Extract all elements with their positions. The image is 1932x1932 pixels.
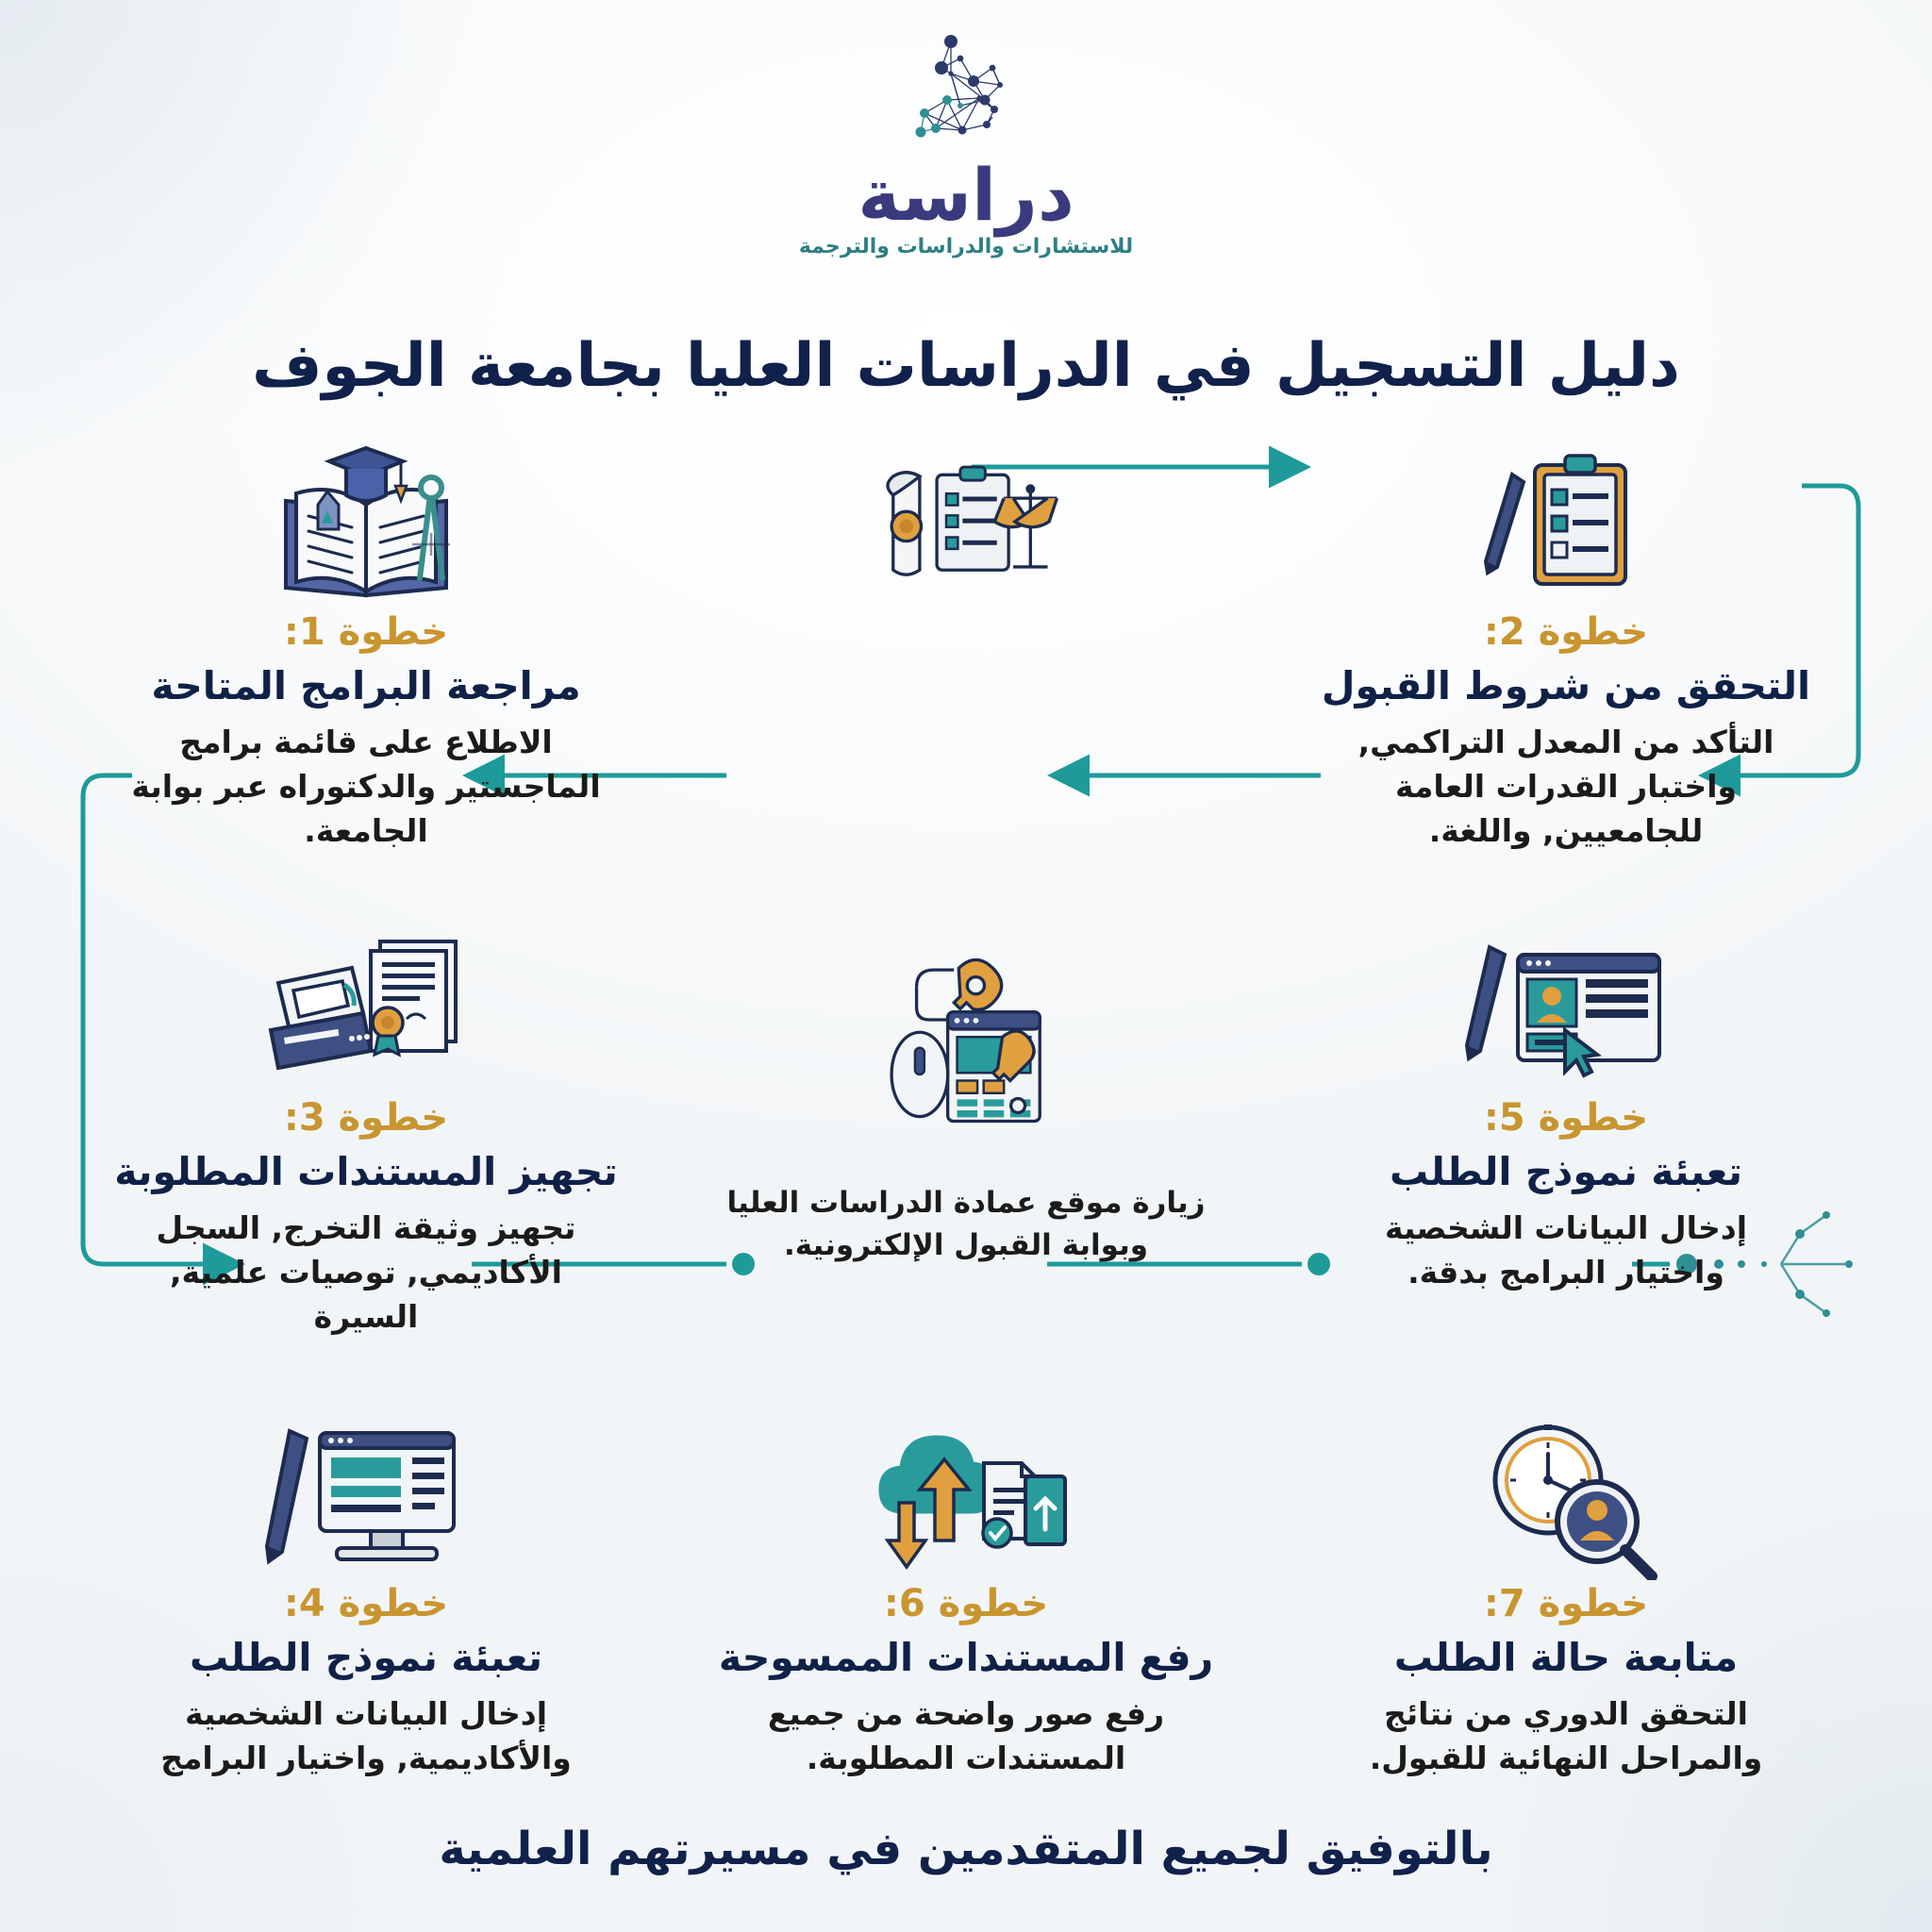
step-title: التحقق من شروط القبول (1322, 663, 1810, 709)
step-title: تعبئة نموذج الطلب (190, 1635, 542, 1681)
step-cell-2: خطوة 2: التحقق من شروط القبول التأكد من … (1266, 443, 1866, 887)
footer-message: بالتوفيق لجميع المتقدمين في مسيرتهم العل… (0, 1821, 1932, 1877)
step-label: خطوة 2: (1484, 610, 1648, 654)
clock-magnifier-person-icon (1465, 1415, 1668, 1580)
step-desc: تجهيز وثيقة التخرج, السجل الأكاديمي, توص… (130, 1207, 602, 1340)
brand-tagline: للاستشارات والدراسات والترجمة (799, 235, 1133, 258)
diploma-scroll-checklist-scale-icon (865, 443, 1068, 608)
step-title: تعبئة نموذج الطلب (1390, 1149, 1742, 1195)
step-title: متابعة حالة الطلب (1394, 1635, 1738, 1681)
step-cell-5: خطوة 5: تعبئة نموذج الطلب إدخال البيانات… (1266, 929, 1866, 1373)
scanner-documents-seal-icon (265, 929, 468, 1094)
step-title: تجهيز المستندات المطلوبة (114, 1149, 617, 1195)
step-label: خطوة 3: (284, 1096, 448, 1140)
step-cell-7: خطوة 7: متابعة حالة الطلب التحقق الدوري … (1266, 1415, 1866, 1858)
step-title: مراجعة البرامج المتاحة (151, 663, 580, 709)
step-desc: الاطلاع على قائمة برامج الماجستير والدكت… (130, 721, 602, 854)
steps-flow: خطوة 2: التحقق من شروط القبول التأكد من … (66, 443, 1866, 1772)
middle-note-cell: زيارة موقع عمادة الدراسات العليا وبوابة … (666, 929, 1266, 1373)
steps-row-3: خطوة 7: متابعة حالة الطلب التحقق الدوري … (66, 1415, 1866, 1858)
middle-note-text: زيارة موقع عمادة الدراسات العليا وبوابة … (721, 1182, 1211, 1267)
step-desc: إدخال البيانات الشخصية واختيار البرامج ب… (1330, 1207, 1802, 1295)
step-card-7[interactable]: خطوة 7: متابعة حالة الطلب التحقق الدوري … (1279, 1415, 1853, 1781)
step-label: خطوة 7: (1484, 1582, 1648, 1625)
cloud-upload-documents-icon (865, 1415, 1068, 1580)
brand-name: دراسة (858, 158, 1074, 233)
step-card-6[interactable]: خطوة 6: رفع المستندات الممسوحة رفع صور و… (679, 1415, 1253, 1781)
step-desc: رفع صور واضحة من جميع المستندات المطلوبة… (730, 1692, 1202, 1781)
scroll-checklist-scale-decoration (679, 443, 1253, 608)
open-book-graduation-cap-compass-icon (265, 443, 468, 608)
step-desc: التحقق الدوري من نتائج والمراحل النهائية… (1330, 1692, 1802, 1781)
browser-profile-form-pen-cursor-icon (1465, 929, 1668, 1094)
sparkle-decoration-icon (1775, 1711, 1841, 1790)
steps-row-1: خطوة 2: التحقق من شروط القبول التأكد من … (66, 443, 1866, 887)
step-cell-4: خطوة 4: تعبئة نموذج الطلب إدخال البيانات… (66, 1415, 666, 1858)
step-cell-6: خطوة 6: رفع المستندات الممسوحة رفع صور و… (666, 1415, 1266, 1858)
step-card-5[interactable]: خطوة 5: تعبئة نموذج الطلب إدخال البيانات… (1279, 929, 1853, 1295)
clipboard-checklist-pen-icon (1465, 443, 1668, 608)
step-card-4[interactable]: خطوة 4: تعبئة نموذج الطلب إدخال البيانات… (79, 1415, 653, 1781)
step-cell-1: خطوة 1: مراجعة البرامج المتاحة الاطلاع ع… (66, 443, 666, 887)
page-title: دليل التسجيل في الدراسات العليا بجامعة ا… (0, 330, 1932, 403)
steps-row-2: خطوة 5: تعبئة نموذج الطلب إدخال البيانات… (66, 929, 1866, 1373)
middle-visual (679, 929, 1253, 1094)
step-desc: إدخال البيانات الشخصية والأكاديمية, واخت… (130, 1692, 602, 1781)
brand-logo-block: دراسة للاستشارات والدراسات والترجمة (0, 26, 1932, 258)
step-label: خطوة 6: (884, 1582, 1048, 1625)
mouse-browser-key-icon (865, 929, 1068, 1094)
step-cell-spacer-top (666, 443, 1266, 887)
network-dove-logo-icon (881, 26, 1051, 163)
step-card-2[interactable]: خطوة 2: التحقق من شروط القبول التأكد من … (1279, 443, 1853, 854)
desktop-form-pen-icon (265, 1415, 468, 1580)
step-label: خطوة 5: (1484, 1096, 1648, 1140)
step-label: خطوة 1: (284, 610, 448, 654)
step-label: خطوة 4: (284, 1582, 448, 1625)
step-cell-3: خطوة 3: تجهيز المستندات المطلوبة تجهيز و… (66, 929, 666, 1373)
step-card-1[interactable]: خطوة 1: مراجعة البرامج المتاحة الاطلاع ع… (79, 443, 653, 854)
step-title: رفع المستندات الممسوحة (719, 1635, 1213, 1681)
step-desc: التأكد من المعدل التراكمي, واختبار القدر… (1330, 721, 1802, 854)
step-card-3[interactable]: خطوة 3: تجهيز المستندات المطلوبة تجهيز و… (79, 929, 653, 1340)
